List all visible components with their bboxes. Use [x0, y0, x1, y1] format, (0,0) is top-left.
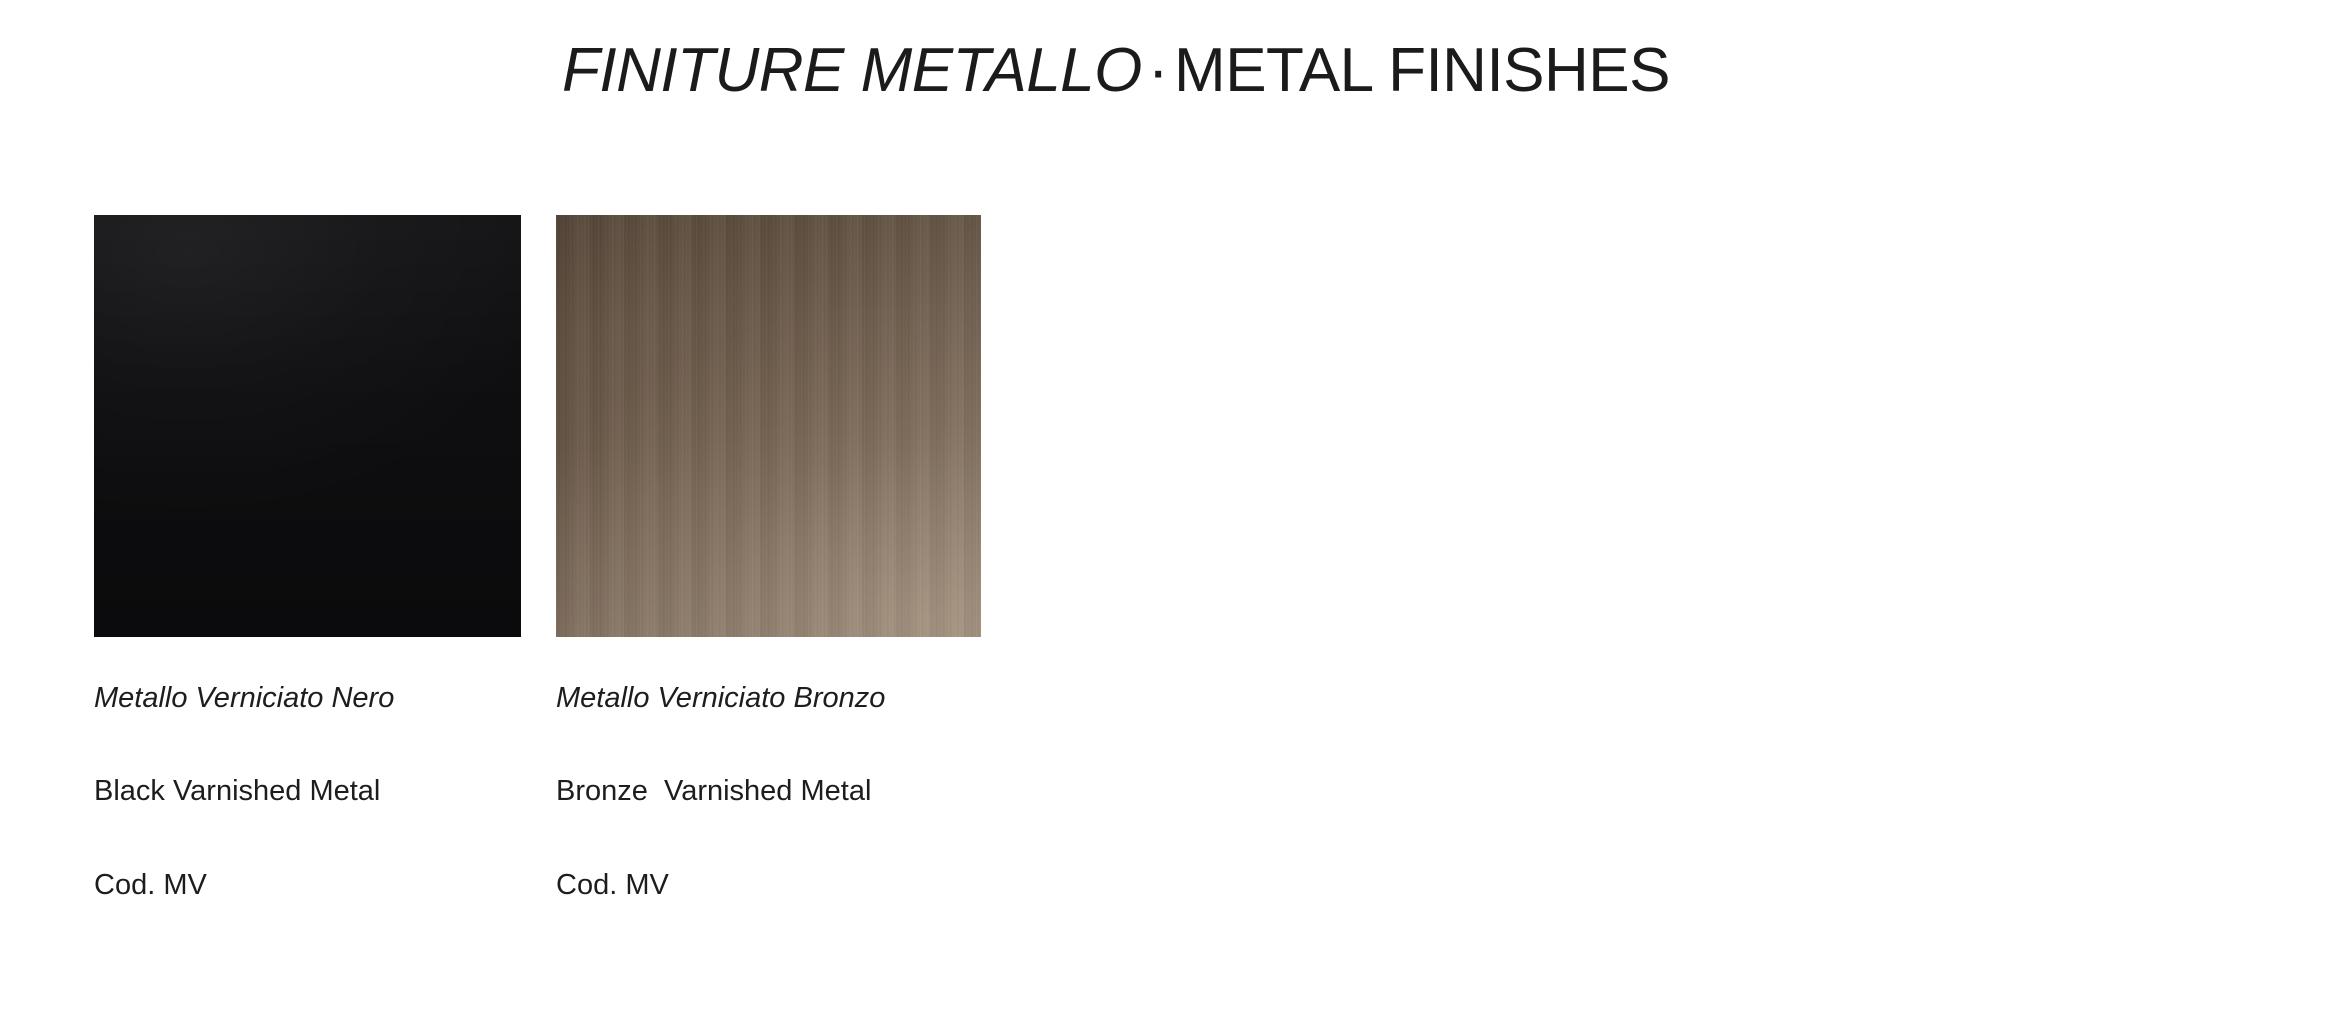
bronze-varnished-metal-swatch[interactable]: [556, 215, 981, 637]
swatch-card: Metallo Verniciato Bronzo Bronze Varnish…: [556, 215, 983, 900]
page-title-separator: ·: [1142, 36, 1174, 105]
swatch-name-en: Bronze Varnished Metal: [556, 777, 983, 806]
swatch-grid: Metallo Verniciato Nero Black Varnished …: [94, 215, 983, 900]
swatch-name-it: Metallo Verniciato Nero: [94, 684, 521, 713]
swatch-name-it: Metallo Verniciato Bronzo: [556, 684, 983, 713]
swatch-caption: Metallo Verniciato Nero Black Varnished …: [94, 637, 521, 900]
swatch-card: Metallo Verniciato Nero Black Varnished …: [94, 215, 521, 900]
page-title-italic: FINITURE METALLO: [562, 36, 1142, 105]
page-title-regular: METAL FINISHES: [1174, 36, 1670, 105]
swatch-code: Cod. MV: [94, 871, 521, 900]
swatch-caption: Metallo Verniciato Bronzo Bronze Varnish…: [556, 637, 983, 900]
metal-finishes-page: { "page": { "background_color": "#ffffff…: [0, 0, 2352, 1026]
swatch-name-en: Black Varnished Metal: [94, 777, 521, 806]
swatch-code: Cod. MV: [556, 871, 983, 900]
black-varnished-metal-swatch[interactable]: [94, 215, 521, 637]
page-title: FINITURE METALLO·METAL FINISHES: [0, 40, 2352, 102]
